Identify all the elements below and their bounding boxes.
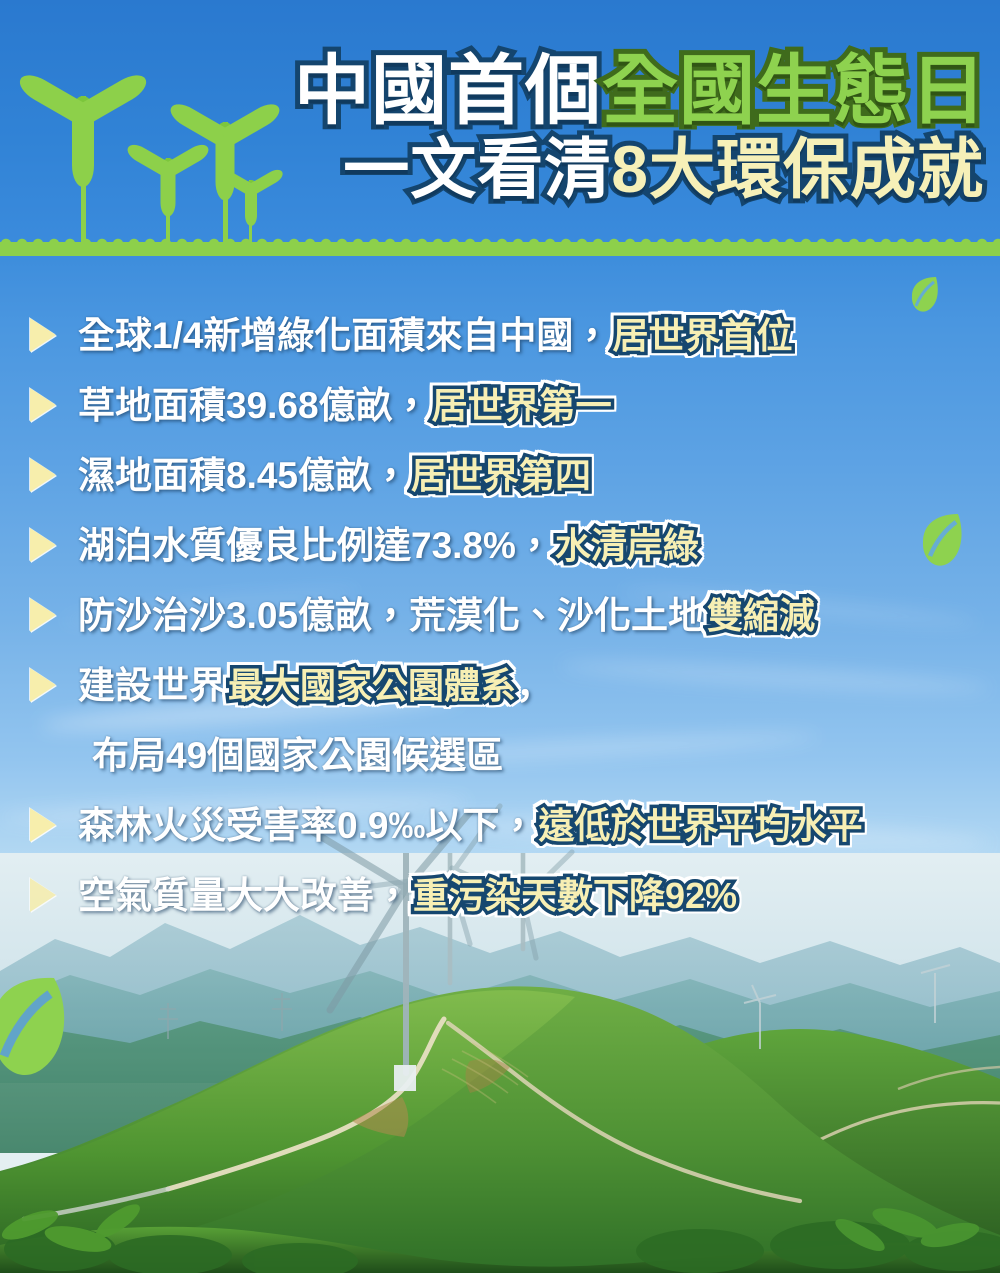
highlight-phrase: 居世界首位 — [612, 318, 792, 354]
title-part-cream: 8大環保成就 — [611, 132, 984, 206]
achievement-row: 草地面積39.68億畝，居世界第一 — [0, 370, 1000, 440]
highlight-phrase: 居世界第四 — [411, 458, 591, 494]
achievement-row: 空氣質量大大改善，重污染天數下降92% — [0, 860, 1000, 930]
highlight-phrase: 水清岸綠 — [555, 528, 699, 564]
achievement-row: 湖泊水質優良比例達73.8%，水清岸綠 — [0, 510, 1000, 580]
highlight-phrase: 重污染天數下降92% — [413, 878, 737, 914]
body-phrase: ， — [516, 667, 553, 704]
achievement-row: 防沙治沙3.05億畝，荒漠化、沙化土地雙縮減 — [0, 580, 1000, 650]
bullet-arrow-icon — [30, 318, 56, 352]
achievement-row: 建設世界 最大國家公園體系 ， — [0, 650, 1000, 720]
title-part-white-2: 一文看清 — [343, 132, 611, 206]
body-phrase: 布局49個國家公園候選區 — [92, 737, 503, 774]
body-phrase: 防沙治沙3.05億畝，荒漠化、沙化土地 — [78, 597, 705, 634]
achievement-list: 全球1/4新增綠化面積來自中國，居世界首位草地面積39.68億畝，居世界第一濕地… — [0, 300, 1000, 930]
bullet-arrow-icon — [30, 528, 56, 562]
highlight-phrase: 雙縮減 — [707, 598, 815, 634]
body-phrase: 建設世界 — [78, 667, 226, 704]
achievement-row: 布局49個國家公園候選區 — [0, 720, 1000, 790]
achievement-text: 草地面積39.68億畝，居世界第一 — [78, 387, 612, 424]
body-phrase: 濕地面積8.45億畝， — [78, 457, 409, 494]
title-line-1: 中國首個全國生態日 — [294, 54, 987, 130]
bullet-arrow-icon — [30, 878, 56, 912]
title-part-green: 全國生態日 — [602, 49, 987, 134]
achievement-text: 森林火災受害率0.9‰以下，遠低於世界平均水平 — [78, 807, 862, 844]
achievement-row: 濕地面積8.45億畝， 居世界第四 — [0, 440, 1000, 510]
achievement-text: 布局49個國家公園候選區 — [92, 737, 503, 774]
title-line-2: 一文看清8大環保成就 — [343, 136, 984, 202]
highlight-phrase: 居世界第一 — [432, 388, 612, 424]
body-phrase: 湖泊水質優良比例達73.8%， — [78, 527, 553, 564]
achievement-text: 防沙治沙3.05億畝，荒漠化、沙化土地雙縮減 — [78, 597, 815, 634]
bullet-arrow-icon — [30, 388, 56, 422]
body-phrase: 全球1/4新增綠化面積來自中國， — [78, 317, 610, 354]
achievement-row: 全球1/4新增綠化面積來自中國，居世界首位 — [0, 300, 1000, 370]
highlight-phrase: 最大國家公園體系 — [228, 668, 516, 704]
bullet-arrow-icon — [30, 598, 56, 632]
leaf-bottom-left-icon — [0, 972, 90, 1082]
body-phrase: 草地面積39.68億畝， — [78, 387, 430, 424]
header-band: 中國首個全國生態日 一文看清8大環保成就 — [0, 0, 1000, 256]
bullet-arrow-icon — [30, 458, 56, 492]
highlight-phrase: 遠低於世界平均水平 — [538, 808, 862, 844]
infographic-poster: 中國首個全國生態日 一文看清8大環保成就 全球1/4新增綠化面積來自中國，居世界… — [0, 0, 1000, 1273]
achievement-text: 空氣質量大大改善，重污染天數下降92% — [78, 877, 737, 914]
achievement-text: 濕地面積8.45億畝， 居世界第四 — [78, 457, 591, 494]
bullet-arrow-icon — [30, 808, 56, 842]
title-part-white-1: 中國首個 — [294, 49, 602, 134]
achievement-text: 全球1/4新增綠化面積來自中國，居世界首位 — [78, 317, 792, 354]
achievement-text: 建設世界 最大國家公園體系 ， — [78, 667, 553, 704]
achievement-row: 森林火災受害率0.9‰以下，遠低於世界平均水平 — [0, 790, 1000, 860]
bullet-arrow-icon — [30, 668, 56, 702]
poster-title: 中國首個全國生態日 一文看清8大環保成就 — [0, 0, 1000, 256]
body-phrase: 空氣質量大大改善， — [78, 877, 411, 914]
achievement-text: 湖泊水質優良比例達73.8%，水清岸綠 — [78, 527, 699, 564]
body-phrase: 森林火災受害率0.9‰以下， — [78, 807, 536, 844]
